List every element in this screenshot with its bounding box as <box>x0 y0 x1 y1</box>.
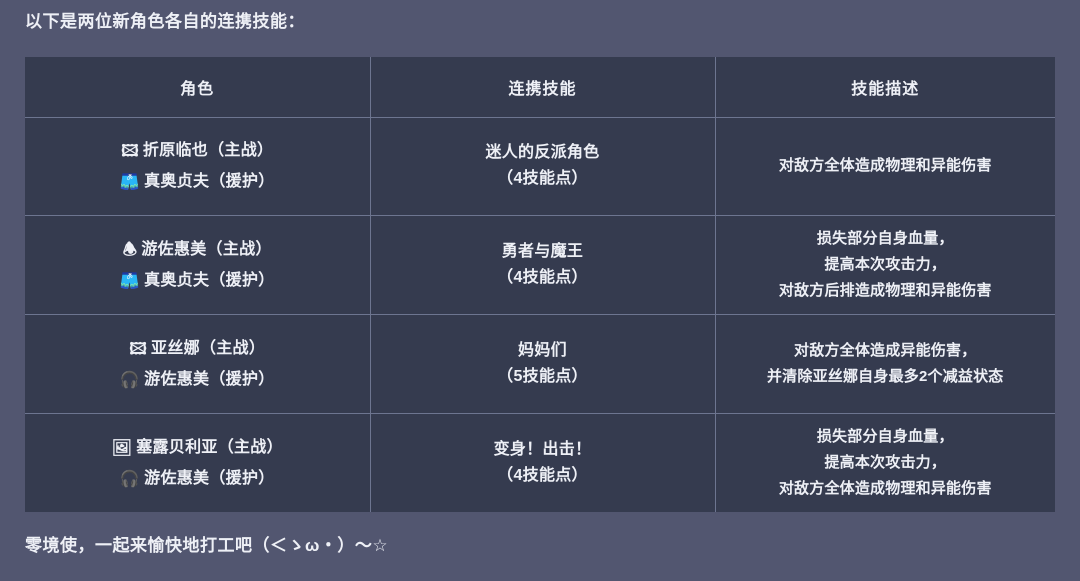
character-entry-main: 🖼塞露贝利亚（主战） <box>33 432 362 463</box>
character-entry-support: 🎧游佐惠美（援护） <box>33 364 362 395</box>
character-cell: 🕭游佐惠美（主战） 🩳真奥贞夫（援护） <box>25 216 370 315</box>
character-name-support: 真奥贞夫（援护） <box>144 272 274 289</box>
skill-name: 妈妈们 <box>379 338 707 364</box>
character-name-main: 塞露贝利亚（主战） <box>136 439 283 456</box>
character-entry-main: 🕭游佐惠美（主战） <box>33 234 362 265</box>
skill-cost: （4技能点） <box>379 265 707 291</box>
description-line: 对敌方后排造成物理和异能伤害 <box>724 278 1048 304</box>
page-root: 以下是两位新角色各自的连携技能： 角色 连携技能 技能描述 🖾折原临也（主战） <box>0 0 1080 581</box>
skill-cell: 勇者与魔王 （4技能点） <box>370 216 715 315</box>
character-name-main: 亚丝娜（主战） <box>151 340 265 357</box>
skill-name: 勇者与魔王 <box>379 239 707 265</box>
description-cell: 损失部分自身血量， 提高本次攻击力， 对敌方后排造成物理和异能伤害 <box>715 216 1055 315</box>
headphones-icon: 🎧 <box>120 463 140 494</box>
table-row: 🖼塞露贝利亚（主战） 🎧游佐惠美（援护） 变身！出击！ （4技能点） 损失部分自… <box>25 413 1055 512</box>
description-cell: 对敌方全体造成物理和异能伤害 <box>715 117 1055 216</box>
skill-cell: 变身！出击！ （4技能点） <box>370 413 715 512</box>
skill-cost: （5技能点） <box>379 364 707 390</box>
column-header-character: 角色 <box>25 57 370 117</box>
table-header: 角色 连携技能 技能描述 <box>25 57 1055 117</box>
column-header-description: 技能描述 <box>715 57 1055 117</box>
character-cell: 🖾折原临也（主战） 🩳真奥贞夫（援护） <box>25 117 370 216</box>
character-entry-main: 🖾折原临也（主战） <box>33 135 362 166</box>
shorts-icon: 🩳 <box>120 265 140 296</box>
table-row: 🖾亚丝娜（主战） 🎧游佐惠美（援护） 妈妈们 （5技能点） 对敌方全体造成异能伤… <box>25 315 1055 414</box>
character-cell: 🖾亚丝娜（主战） 🎧游佐惠美（援护） <box>25 315 370 414</box>
skill-cell: 迷人的反派角色 （4技能点） <box>370 117 715 216</box>
description-line: 对敌方全体造成异能伤害， <box>724 338 1048 364</box>
description-cell: 对敌方全体造成异能伤害， 并清除亚丝娜自身最多2个减益状态 <box>715 315 1055 414</box>
table-body: 🖾折原临也（主战） 🩳真奥贞夫（援护） 迷人的反派角色 （4技能点） 对敌方全体… <box>25 117 1055 512</box>
table-row: 🖾折原临也（主战） 🩳真奥贞夫（援护） 迷人的反派角色 （4技能点） 对敌方全体… <box>25 117 1055 216</box>
description-line: 并清除亚丝娜自身最多2个减益状态 <box>724 364 1048 390</box>
character-entry-support: 🩳真奥贞夫（援护） <box>33 166 362 197</box>
character-entry-support: 🩳真奥贞夫（援护） <box>33 265 362 296</box>
character-cell: 🖼塞露贝利亚（主战） 🎧游佐惠美（援护） <box>25 413 370 512</box>
description-line: 损失部分自身血量， <box>724 424 1048 450</box>
skill-name: 变身！出击！ <box>379 437 707 463</box>
combo-skill-table: 角色 连携技能 技能描述 🖾折原临也（主战） 🩳真奥贞夫（援护） 迷人的反派角色… <box>25 57 1055 512</box>
column-header-skill: 连携技能 <box>370 57 715 117</box>
skill-name: 迷人的反派角色 <box>379 140 707 166</box>
box-pen-icon: 🖾 <box>129 333 147 364</box>
description-line: 提高本次攻击力， <box>724 252 1048 278</box>
description-line: 提高本次攻击力， <box>724 450 1048 476</box>
headphones-icon: 🎧 <box>120 364 140 395</box>
character-entry-main: 🖾亚丝娜（主战） <box>33 333 362 364</box>
table-row: 🕭游佐惠美（主战） 🩳真奥贞夫（援护） 勇者与魔王 （4技能点） 损失部分自身血… <box>25 216 1055 315</box>
skill-cost: （4技能点） <box>379 166 707 192</box>
character-entry-support: 🎧游佐惠美（援护） <box>33 463 362 494</box>
description-line: 对敌方全体造成物理和异能伤害 <box>724 476 1048 502</box>
character-name-main: 游佐惠美（主战） <box>141 241 271 258</box>
description-cell: 损失部分自身血量， 提高本次攻击力， 对敌方全体造成物理和异能伤害 <box>715 413 1055 512</box>
table-header-row: 角色 连携技能 技能描述 <box>25 57 1055 117</box>
character-name-support: 游佐惠美（援护） <box>144 371 274 388</box>
description-line: 损失部分自身血量， <box>724 226 1048 252</box>
box-pen-icon: 🖾 <box>121 135 139 166</box>
character-name-support: 游佐惠美（援护） <box>144 470 274 487</box>
character-name-support: 真奥贞夫（援护） <box>144 173 274 190</box>
framed-picture-icon: 🖼 <box>112 432 133 463</box>
shorts-icon: 🩳 <box>120 166 140 197</box>
character-name-main: 折原临也（主战） <box>143 142 273 159</box>
footer-note: 零境使，一起来愉快地打工吧（＜ゝω・）〜☆ <box>25 533 388 559</box>
skill-cell: 妈妈们 （5技能点） <box>370 315 715 414</box>
page-title: 以下是两位新角色各自的连携技能： <box>25 9 305 35</box>
compass-circle-icon: 🕭 <box>123 234 138 265</box>
skill-cost: （4技能点） <box>379 463 707 489</box>
description-line: 对敌方全体造成物理和异能伤害 <box>724 153 1048 179</box>
